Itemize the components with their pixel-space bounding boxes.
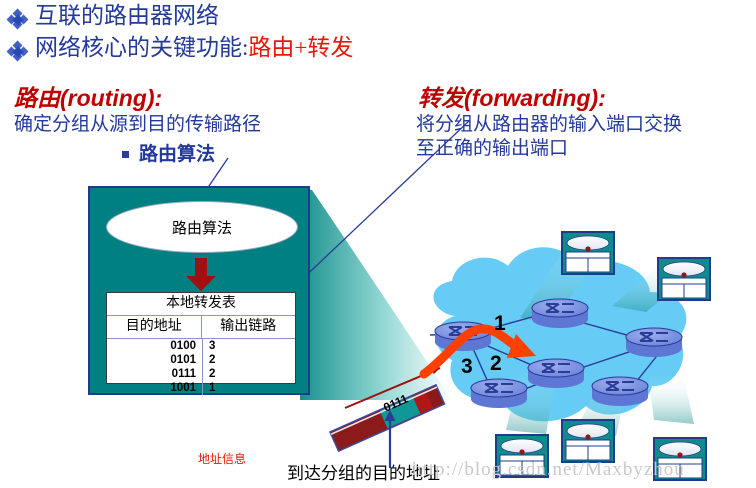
cell-destination: 0101 bbox=[107, 353, 203, 367]
diamond-bullet-icon bbox=[8, 42, 26, 60]
host-node bbox=[562, 232, 614, 274]
routing-sub-item-label: 路由算法 bbox=[139, 144, 215, 165]
host-beams bbox=[506, 246, 700, 436]
host-nodes bbox=[496, 232, 710, 480]
routing-title-latin: (routing): bbox=[60, 85, 162, 111]
table-row: 0101 2 bbox=[107, 353, 295, 367]
router-node bbox=[435, 322, 491, 351]
heading-2-prefix: 网络核心的关键功能: bbox=[35, 35, 248, 60]
forwarding-title-cjk: 转发 bbox=[418, 86, 464, 111]
cell-outlink: 3 bbox=[203, 339, 295, 353]
host-node bbox=[658, 258, 710, 300]
router-node bbox=[471, 379, 527, 408]
cell-destination: 0100 bbox=[107, 339, 203, 353]
heading-row-1: 互联的路由器网络 bbox=[8, 4, 219, 28]
heading-1-text: 互联的路由器网络 bbox=[35, 4, 219, 28]
router-node bbox=[528, 359, 584, 388]
cell-outlink: 1 bbox=[203, 381, 295, 395]
host-node bbox=[562, 420, 614, 462]
down-arrow-icon bbox=[183, 258, 219, 292]
forwarding-section-title: 转发(forwarding): bbox=[418, 79, 606, 113]
link-number-3: 3 bbox=[461, 355, 473, 379]
heading-2-accent: 路由+转发 bbox=[248, 35, 353, 60]
cell-outlink: 2 bbox=[203, 367, 295, 381]
link-number-1: 1 bbox=[494, 312, 506, 336]
routing-algorithm-label: 路由算法 bbox=[172, 217, 232, 238]
packet-graphic bbox=[330, 385, 445, 451]
address-info-note: 地址信息 bbox=[198, 450, 246, 467]
router-node bbox=[592, 377, 648, 406]
routing-title-cjk: 路由 bbox=[14, 86, 60, 111]
routing-sub-item-row: 路由算法 bbox=[122, 139, 215, 166]
forwarding-title-latin: (forwarding): bbox=[464, 85, 606, 111]
table-row: 0111 2 bbox=[107, 367, 295, 381]
column-header-destination: 目的地址 bbox=[107, 316, 202, 338]
forwarding-table-body: 0100 3 0101 2 0111 2 1001 1 bbox=[107, 339, 295, 395]
router-node bbox=[626, 328, 682, 357]
column-header-outlink: 输出链路 bbox=[202, 316, 296, 338]
packet-bits-label: 0111 bbox=[381, 391, 410, 414]
router-nodes bbox=[435, 299, 682, 408]
cell-destination: 0111 bbox=[107, 367, 203, 381]
router-internals-box: 路由算法 本地转发表 目的地址 输出链路 0100 3 0101 2 0111 … bbox=[88, 186, 310, 395]
diamond-bullet-icon bbox=[8, 10, 26, 28]
forwarding-table: 本地转发表 目的地址 输出链路 0100 3 0101 2 0111 2 100… bbox=[106, 292, 296, 384]
table-row: 0100 3 bbox=[107, 339, 295, 353]
link-number-2: 2 bbox=[490, 352, 502, 376]
routing-algorithm-oval: 路由算法 bbox=[106, 201, 298, 253]
routing-section-title: 路由(routing): bbox=[14, 79, 162, 113]
teal-shadow-wedge bbox=[300, 188, 452, 400]
cell-destination: 1001 bbox=[107, 381, 203, 395]
heading-2-text: 网络核心的关键功能:路由+转发 bbox=[35, 36, 353, 60]
table-row: 1001 1 bbox=[107, 381, 295, 395]
network-links bbox=[430, 311, 660, 395]
square-bullet-icon bbox=[122, 151, 129, 158]
routing-description: 确定分组从源到目的传输路径 bbox=[14, 113, 261, 136]
forwarding-table-caption: 本地转发表 bbox=[107, 293, 295, 316]
network-cloud bbox=[433, 247, 686, 421]
cell-outlink: 2 bbox=[203, 353, 295, 367]
router-node bbox=[532, 299, 588, 328]
forwarding-arrow bbox=[424, 329, 536, 374]
watermark-text: http://blog.csdn.net/Maxbyzhou bbox=[412, 459, 685, 481]
forwarding-table-header: 目的地址 输出链路 bbox=[107, 316, 295, 339]
forwarding-description-line-2: 至正确的输出端口 bbox=[416, 137, 568, 160]
forwarding-description-line-1: 将分组从路由器的输入端口交换 bbox=[416, 113, 682, 136]
heading-row-2: 网络核心的关键功能:路由+转发 bbox=[8, 36, 353, 60]
